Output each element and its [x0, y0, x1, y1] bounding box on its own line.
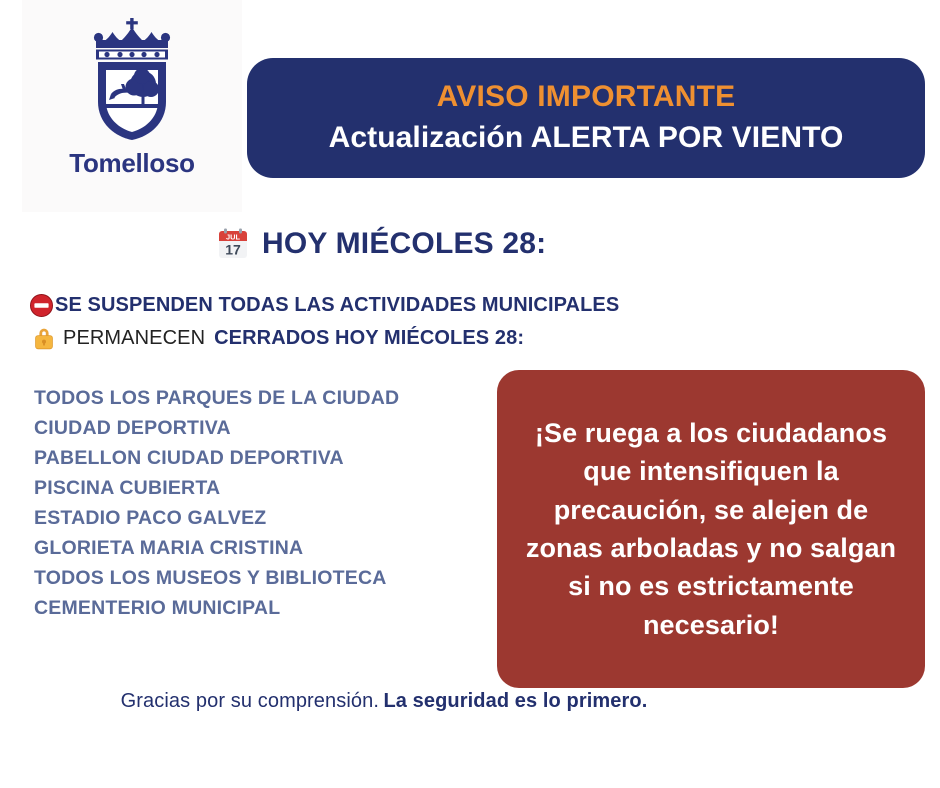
- svg-text:JUL: JUL: [226, 232, 240, 241]
- list-item: TODOS LOS PARQUES DE LA CIUDAD: [34, 383, 474, 413]
- poster-canvas: Tomelloso AVISO IMPORTANTE Actualización…: [0, 0, 940, 788]
- notice-suspended: SE SUSPENDEN TODAS LAS ACTIVIDADES MUNIC…: [30, 294, 619, 317]
- closures-list: TODOS LOS PARQUES DE LA CIUDAD CIUDAD DE…: [34, 383, 474, 623]
- notice-suspended-text: SE SUSPENDEN TODAS LAS ACTIVIDADES MUNIC…: [55, 294, 619, 317]
- list-item: PABELLON CIUDAD DEPORTIVA: [34, 443, 474, 473]
- notice-closed: PERMANECEN CERRADOS HOY MIÉCOLES 28:: [34, 326, 524, 350]
- svg-text:17: 17: [225, 242, 241, 258]
- alert-banner: AVISO IMPORTANTE Actualización ALERTA PO…: [247, 58, 925, 178]
- notice-closed-text: CERRADOS HOY MIÉCOLES 28:: [214, 327, 524, 350]
- banner-title: AVISO IMPORTANTE: [437, 80, 736, 115]
- footer-safety: La seguridad es lo primero.: [383, 690, 647, 712]
- banner-subtitle: Actualización ALERTA POR VIENTO: [329, 120, 844, 156]
- list-item: CEMENTERIO MUNICIPAL: [34, 593, 474, 623]
- lock-icon: [34, 326, 54, 350]
- warning-callout-text: ¡Se ruega a los ciudadanos que intensifi…: [515, 414, 907, 644]
- logo-name: Tomelloso: [69, 148, 194, 179]
- list-item: PISCINA CUBIERTA: [34, 473, 474, 503]
- date-heading-text: HOY MIÉCOLES 28:: [262, 227, 546, 261]
- notice-closed-prefix: PERMANECEN: [63, 327, 205, 350]
- footer-note: Gracias por su comprensión. La seguridad…: [0, 690, 768, 713]
- warning-callout: ¡Se ruega a los ciudadanos que intensifi…: [497, 370, 925, 688]
- footer-thanks: Gracias por su comprensión.: [121, 690, 379, 712]
- no-entry-icon: [30, 294, 53, 317]
- tomelloso-coat-of-arms-icon: [85, 18, 179, 142]
- list-item: CIUDAD DEPORTIVA: [34, 413, 474, 443]
- list-item: TODOS LOS MUSEOS Y BIBLIOTECA: [34, 563, 474, 593]
- date-heading: JUL 17 HOY MIÉCOLES 28:: [218, 227, 546, 261]
- calendar-icon: JUL 17: [218, 228, 248, 260]
- tomelloso-logo: Tomelloso: [22, 0, 242, 212]
- list-item: GLORIETA MARIA CRISTINA: [34, 533, 474, 563]
- list-item: ESTADIO PACO GALVEZ: [34, 503, 474, 533]
